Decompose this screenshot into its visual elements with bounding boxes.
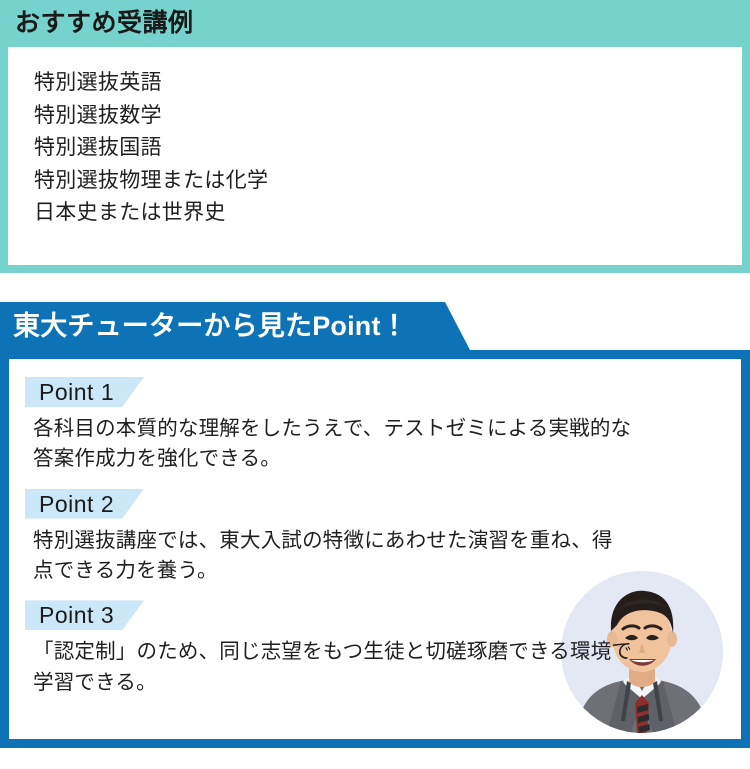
- recommended-courses-body: 特別選抜英語 特別選抜数学 特別選抜国語 特別選抜物理または化学 日本史または世…: [0, 47, 750, 273]
- list-item: 特別選抜国語: [34, 132, 742, 165]
- recommended-courses-section: おすすめ受講例 特別選抜英語 特別選抜数学 特別選抜国語 特別選抜物理または化学…: [0, 0, 750, 273]
- list-item: 特別選抜数学: [34, 100, 742, 133]
- point-block-3: Point 3 「認定制」のため、同じ志望をもつ生徒と切磋琢磨できる環境で学習で…: [25, 600, 725, 698]
- recommended-courses-title: おすすめ受講例: [15, 11, 194, 36]
- recommended-courses-header: おすすめ受講例: [0, 0, 750, 47]
- point-block-1: Point 1 各科目の本質的な理解をしたうえで、テストゼミによる実戦的な答案作…: [25, 377, 725, 475]
- tutor-point-card-inner: Point 1 各科目の本質的な理解をしたうえで、テストゼミによる実戦的な答案作…: [9, 359, 741, 739]
- point-block-2: Point 2 特別選抜講座では、東大入試の特徴にあわせた演習を重ね、得点できる…: [25, 489, 725, 587]
- page-root: おすすめ受講例 特別選抜英語 特別選抜数学 特別選抜国語 特別選抜物理または化学…: [0, 0, 750, 769]
- list-item: 日本史または世界史: [34, 197, 742, 230]
- point-text-3: 「認定制」のため、同じ志望をもつ生徒と切磋琢磨できる環境で学習できる。: [33, 637, 633, 698]
- point-label-1: Point 1: [25, 377, 144, 407]
- course-list: 特別選抜英語 特別選抜数学 特別選抜国語 特別選抜物理または化学 日本史または世…: [8, 47, 742, 265]
- point-label-2: Point 2: [25, 489, 144, 519]
- point-text-1: 各科目の本質的な理解をしたうえで、テストゼミによる実戦的な答案作成力を強化できる…: [33, 414, 633, 475]
- tutor-point-card: Point 1 各科目の本質的な理解をしたうえで、テストゼミによる実戦的な答案作…: [0, 350, 750, 748]
- point-label-3: Point 3: [25, 600, 144, 630]
- tutor-point-section: 東大チューターから見たPoint！ Point 1 各科目の本質的な理解をしたう…: [0, 302, 750, 748]
- point-text-2: 特別選抜講座では、東大入試の特徴にあわせた演習を重ね、得点できる力を養う。: [33, 526, 633, 587]
- tutor-point-ribbon-title: 東大チューターから見たPoint！: [0, 302, 470, 350]
- list-item: 特別選抜物理または化学: [34, 165, 742, 198]
- list-item: 特別選抜英語: [34, 67, 742, 100]
- tutor-point-ribbon: 東大チューターから見たPoint！: [0, 302, 470, 350]
